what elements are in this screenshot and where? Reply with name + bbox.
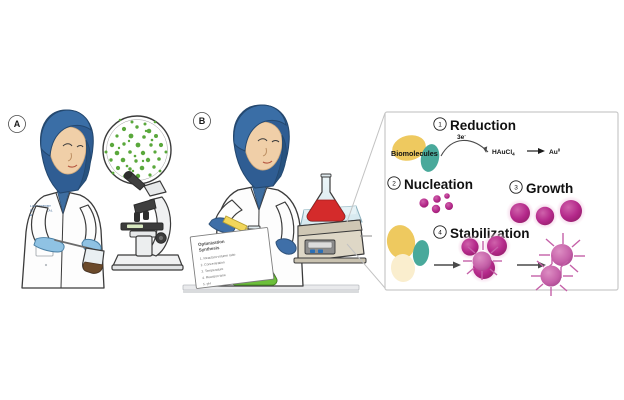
biomolecules-label: Biomolecules bbox=[391, 149, 438, 158]
step-3-label: Growth bbox=[526, 181, 573, 196]
panel-a: A bbox=[9, 110, 184, 288]
optimization-note-sheet: Optimization Synthesis 1. Reactant volum… bbox=[190, 227, 274, 288]
mechanism-callout-panel: 1 Reduction Biomolecules 3e- HAuCl4 bbox=[384, 112, 618, 296]
step-4-number: 4 bbox=[438, 229, 442, 236]
panel-a-letter-badge: A bbox=[9, 116, 26, 133]
step-1-number: 1 bbox=[438, 121, 442, 128]
microscope bbox=[112, 170, 183, 270]
illustration-canvas: A bbox=[0, 0, 624, 400]
step-3-number: 3 bbox=[514, 184, 518, 191]
panel-b-letter: B bbox=[199, 116, 206, 126]
panel-a-letter: A bbox=[14, 119, 21, 129]
erlenmeyer-flask-red bbox=[307, 174, 345, 221]
figure-root: A bbox=[0, 0, 624, 400]
step-2-number: 2 bbox=[392, 180, 396, 187]
step-1-label: Reduction bbox=[450, 118, 516, 133]
panel-b-letter-badge: B bbox=[194, 113, 211, 130]
hotplate-stirrer bbox=[294, 174, 366, 263]
reduction-equation: HAuCl4 bbox=[492, 149, 515, 157]
panel-b: B bbox=[183, 105, 366, 293]
scientist-a: LABORATORY FOR PHYSICAL BIOLOGY bbox=[22, 110, 104, 288]
petri-dish-colonies bbox=[103, 116, 171, 184]
step-2-label: Nucleation bbox=[404, 177, 473, 192]
